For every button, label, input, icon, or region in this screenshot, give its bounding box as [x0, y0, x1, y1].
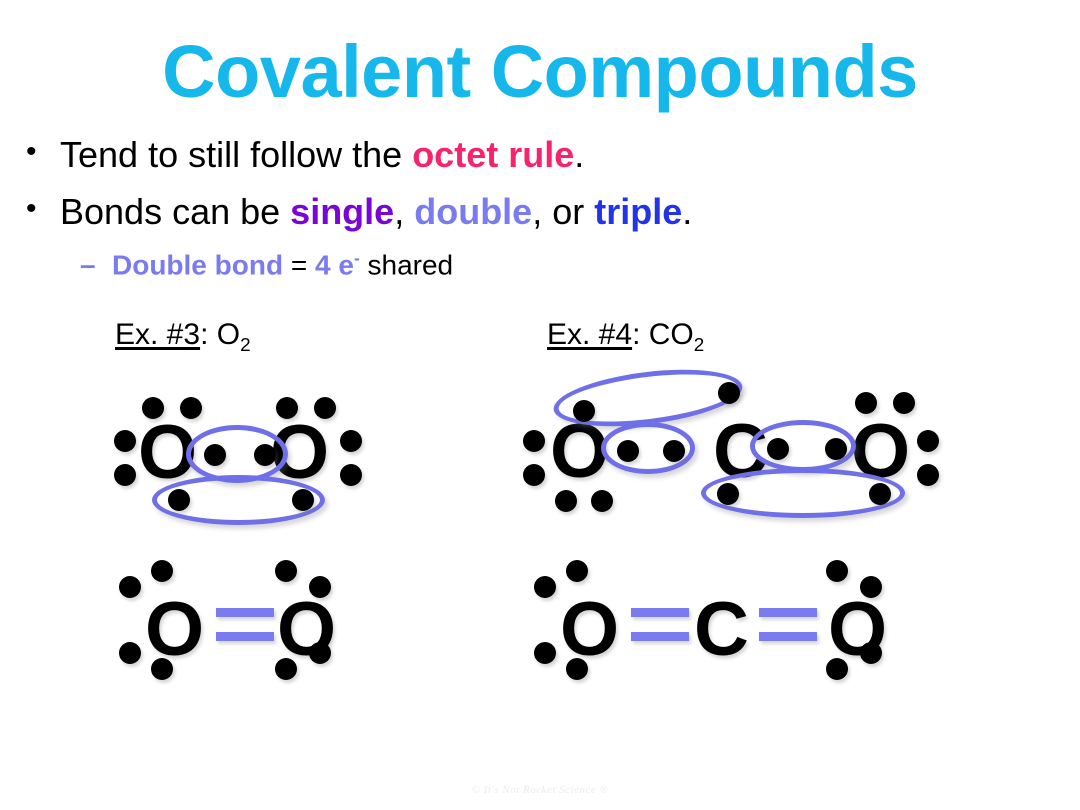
electron-dot — [855, 392, 877, 414]
diagram-o2-dot-structure: O O — [100, 380, 380, 540]
sub-bullet-equals: = — [283, 249, 315, 280]
electron-dot — [523, 464, 545, 486]
diagram-co2-dot-structure: O C O — [515, 372, 935, 542]
bond-line-double-right-lower — [759, 632, 817, 641]
electron-dot — [119, 642, 141, 664]
bullet-item-octet: •Tend to still follow the octet rule. — [26, 135, 584, 175]
electron-dot — [119, 576, 141, 598]
electron-dot-shared — [767, 438, 789, 460]
bond-line-double-right-upper — [759, 608, 817, 617]
electron-dot — [114, 430, 136, 452]
example-formula-subscript-4: 2 — [694, 335, 705, 356]
electron-dot — [591, 490, 613, 512]
electron-dot — [309, 576, 331, 598]
example-formula-4: CO — [649, 318, 694, 351]
electron-dot — [917, 464, 939, 486]
electron-dot — [142, 397, 164, 419]
example-label-3: Ex. #3 — [115, 318, 200, 351]
bullet2-sep-2: , or — [532, 191, 594, 232]
example-formula-subscript-3: 2 — [240, 335, 251, 356]
bond-line-double-upper — [216, 608, 274, 617]
example-separator-4: : — [632, 318, 649, 351]
electron-dot — [566, 658, 588, 680]
example-formula-3: O — [217, 318, 240, 351]
electron-dot — [275, 560, 297, 582]
electron-dot — [534, 642, 556, 664]
sub-bullet-label: Double bond — [112, 249, 283, 280]
electron-dot-shared — [573, 400, 595, 422]
electron-dot-shared — [663, 440, 685, 462]
electron-dot — [917, 430, 939, 452]
bond-line-double-lower — [216, 632, 274, 641]
bullet2-text-pre: Bonds can be — [60, 191, 290, 232]
electron-dot-shared — [825, 438, 847, 460]
bullet-marker-icon: • — [26, 135, 60, 169]
electron-dot — [114, 464, 136, 486]
bullet1-text-pre: Tend to still follow the — [60, 134, 412, 175]
bond-line-double-left-upper — [631, 608, 689, 617]
bullet2-emphasis-double: double — [414, 191, 532, 232]
page-title: Covalent Compounds — [0, 33, 1080, 111]
bullet2-sep-1: , — [394, 191, 414, 232]
atom-label-c-center: C — [694, 592, 749, 668]
atom-label-o-left: O — [560, 592, 619, 668]
electron-dot-shared — [718, 382, 740, 404]
bullet2-text-post: . — [682, 191, 692, 232]
electron-dot-shared — [617, 440, 639, 462]
example-label-4: Ex. #4 — [547, 318, 632, 351]
electron-dot — [340, 430, 362, 452]
bullet2-emphasis-triple: triple — [594, 191, 682, 232]
bullet2-emphasis-single: single — [290, 191, 394, 232]
diagram-o2-line-structure: O O — [115, 558, 365, 688]
electron-dot — [893, 392, 915, 414]
electron-dot — [860, 642, 882, 664]
bullet1-emphasis-octet-rule: octet rule — [412, 134, 574, 175]
electron-dot — [275, 658, 297, 680]
example-heading-co2: Ex. #4: CO2 — [547, 318, 704, 357]
bullet1-text-post: . — [574, 134, 584, 175]
electron-dot — [309, 642, 331, 664]
bullet-item-bond-types: •Bonds can be single, double, or triple. — [26, 192, 692, 232]
footer-watermark: © It's Not Rocket Science ® — [0, 784, 1080, 796]
electron-dot — [860, 576, 882, 598]
electron-dot — [826, 560, 848, 582]
atom-label-o-left: O — [145, 592, 204, 668]
electron-dot-shared — [869, 483, 891, 505]
electron-dot-shared — [717, 483, 739, 505]
electron-dot — [566, 560, 588, 582]
electron-dot — [276, 397, 298, 419]
sub-bullet-tail: shared — [360, 249, 453, 280]
sub-bullet-dash-icon: – — [80, 250, 112, 281]
electron-dot — [534, 576, 556, 598]
electron-dot-shared — [292, 489, 314, 511]
electron-dot — [340, 464, 362, 486]
electron-dot — [180, 397, 202, 419]
sub-bullet-value: 4 e — [315, 249, 354, 280]
diagram-co2-line-structure: O C O — [530, 558, 910, 688]
electron-dot — [523, 430, 545, 452]
electron-dot-shared — [204, 444, 226, 466]
bullet-marker-icon: • — [26, 192, 60, 226]
slide-canvas: Covalent Compounds •Tend to still follow… — [0, 0, 1080, 810]
example-heading-o2: Ex. #3: O2 — [115, 318, 251, 357]
bond-line-double-left-lower — [631, 632, 689, 641]
example-separator-3: : — [200, 318, 217, 351]
electron-dot — [151, 658, 173, 680]
sub-bullet-double-bond: –Double bond = 4 e- shared — [80, 249, 453, 281]
electron-dot — [151, 560, 173, 582]
electron-dot-shared — [168, 489, 190, 511]
electron-dot — [555, 490, 577, 512]
electron-dot-shared — [254, 444, 276, 466]
electron-dot — [826, 658, 848, 680]
electron-dot — [314, 397, 336, 419]
